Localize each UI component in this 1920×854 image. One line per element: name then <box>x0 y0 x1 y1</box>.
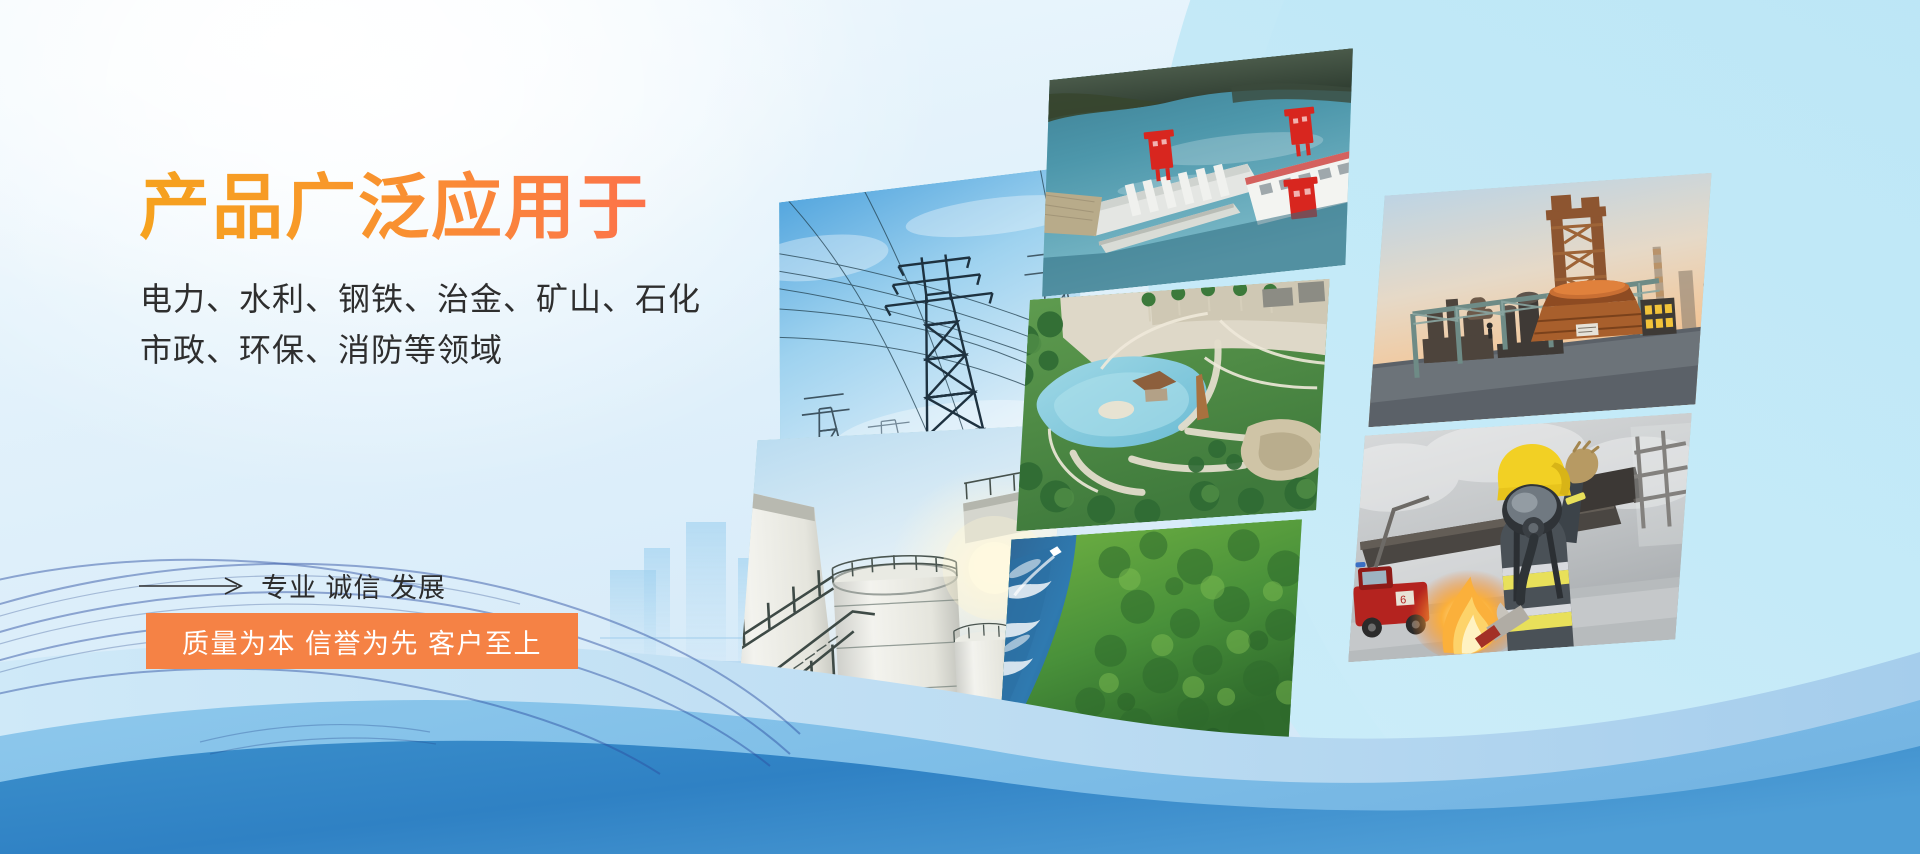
slogan-ribbon-text: 质量为本 信誉为先 客户至上 <box>182 622 542 661</box>
photo-hydro-dam <box>1020 48 1376 297</box>
subtitle-line-1: 电力、水利、钢铁、治金、矿山、石化 <box>140 274 859 325</box>
banner-stage: 6 <box>0 0 1920 854</box>
slogan-ribbon[interactable]: 质量为本 信誉为先 客户至上 <box>146 613 578 669</box>
page-title: 产品广泛应用于 <box>139 170 859 248</box>
subtitle-line-2: 市政、环保、消防等领域 <box>140 325 859 376</box>
tagline-row: 专业 诚信 发展 <box>139 566 446 605</box>
photo-steel-plant <box>1352 173 1727 428</box>
copy-block: 产品广泛应用于 电力、水利、钢铁、治金、矿山、石化 市政、环保、消防等领域 <box>139 170 859 375</box>
long-arrow-right-icon <box>139 576 247 596</box>
photo-municipal-park <box>1000 279 1345 531</box>
tagline-text: 专业 诚信 发展 <box>261 566 446 605</box>
subtitle-block: 电力、水利、钢铁、治金、矿山、石化 市政、环保、消防等领域 <box>140 274 859 375</box>
